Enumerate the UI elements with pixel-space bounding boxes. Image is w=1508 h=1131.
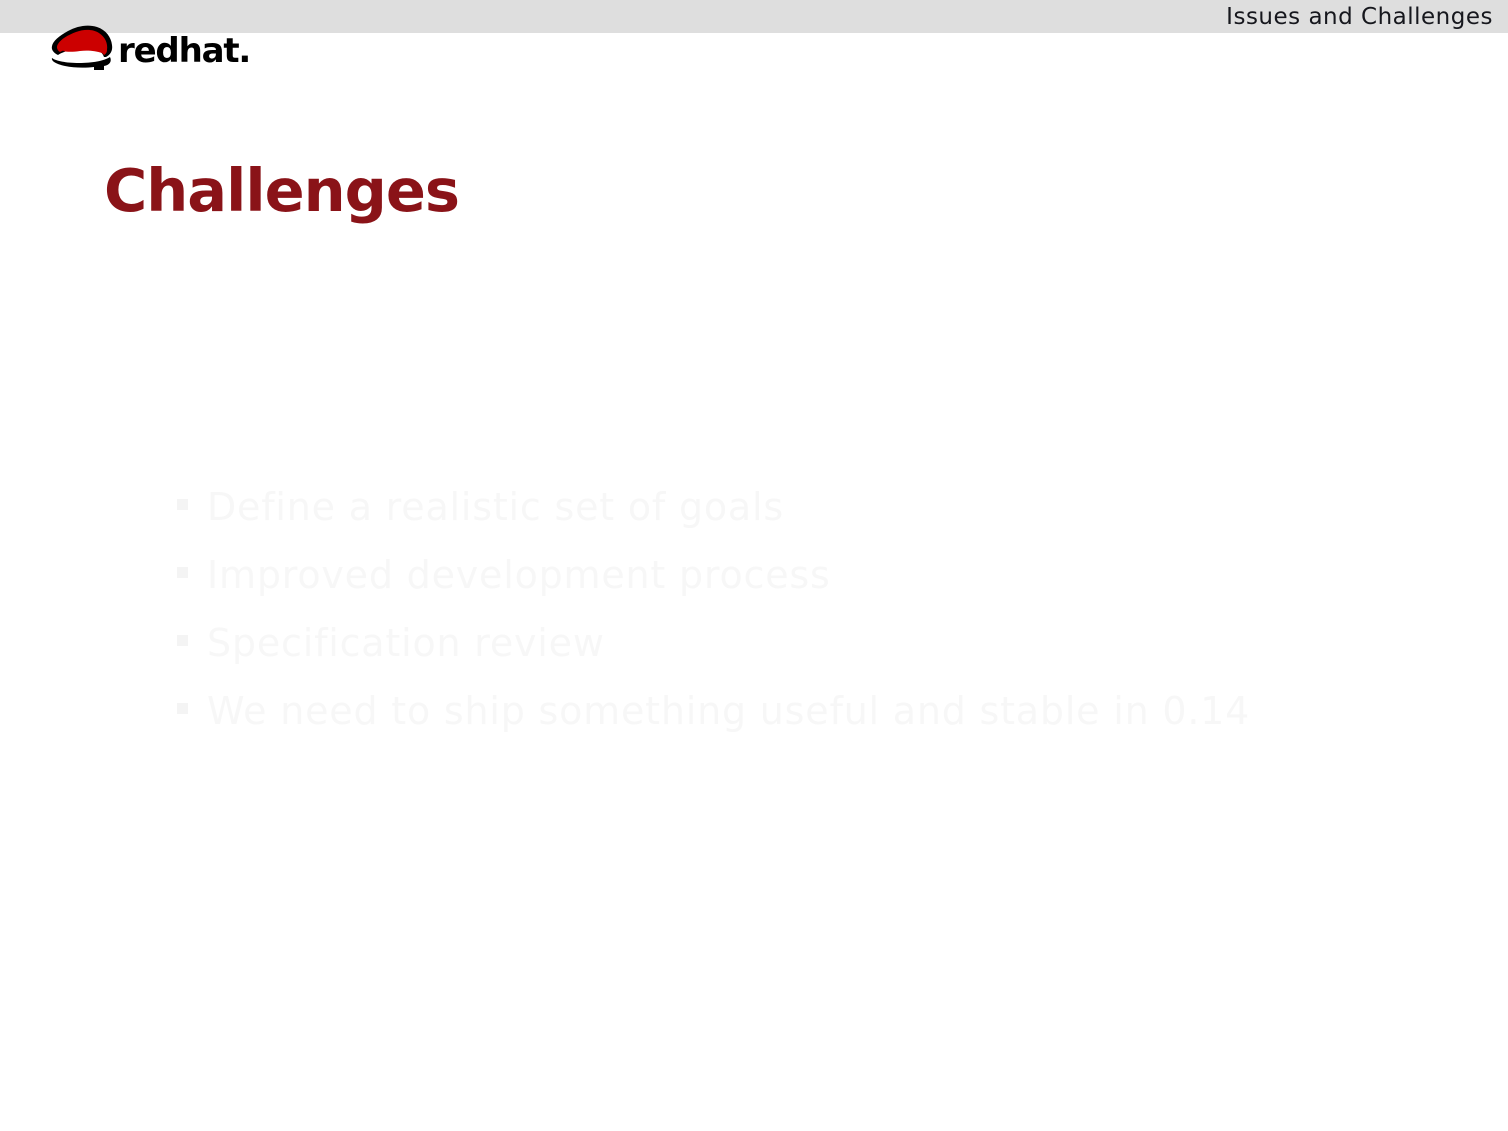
shadowman-fedora-icon [46,21,122,71]
list-item-label: We need to ship something useful and sta… [207,689,1250,733]
bullet-square-icon [177,703,188,714]
list-item-label: Improved development process [207,553,831,597]
list-item: Define a realistic set of goals [175,473,1375,541]
list-item: Specification review [175,609,1375,677]
header-section-title: Issues and Challenges [1226,2,1493,32]
list-item-label: Define a realistic set of goals [207,485,784,529]
list-item: We need to ship something useful and sta… [175,677,1375,745]
bullet-square-icon [177,635,188,646]
redhat-wordmark: redhat. [118,34,250,68]
list-item: Improved development process [175,541,1375,609]
bullet-square-icon [177,499,188,510]
list-item-label: Specification review [207,621,605,665]
bullet-square-icon [177,567,188,578]
redhat-logo: redhat. [46,21,246,73]
bullet-list: Define a realistic set of goals Improved… [175,473,1375,745]
presentation-slide: Issues and Challenges redhat. Challenges… [0,0,1508,1131]
page-title: Challenges [104,158,459,224]
